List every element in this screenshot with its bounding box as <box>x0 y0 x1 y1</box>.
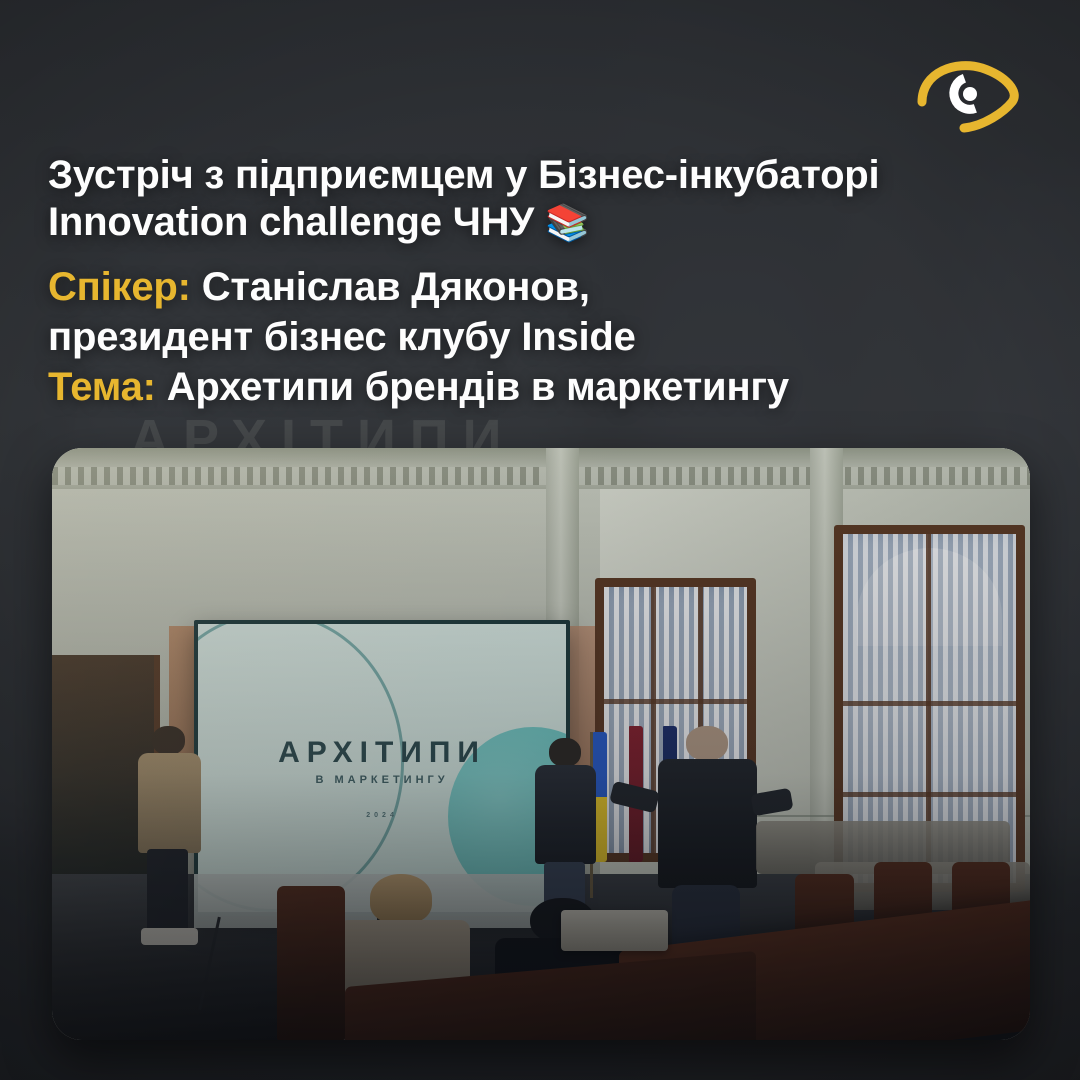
social-post-card: АРХІТИПИ Зустріч з підприємцем у Бізнес-… <box>0 0 1080 1080</box>
title-line-2: Innovation challenge ЧНУ 📚 <box>48 199 968 246</box>
event-photo: АРХІТИПИ В МАРКЕТИНГУ 2024 <box>52 448 1030 1040</box>
topic-value: Архетипи брендів в маркетингу <box>167 365 789 409</box>
eye-logo-icon <box>908 48 1028 144</box>
photo-scene: АРХІТИПИ В МАРКЕТИНГУ 2024 <box>52 448 1030 1040</box>
event-details: Спікер: Станіслав Дяконов, президент біз… <box>48 262 998 412</box>
title-line-1: Зустріч з підприємцем у Бізнес-інкубатор… <box>48 152 968 199</box>
speaker-label: Спікер: <box>48 265 191 309</box>
page-title: Зустріч з підприємцем у Бізнес-інкубатор… <box>48 152 968 246</box>
books-emoji: 📚 <box>545 202 590 243</box>
speaker-name: Станіслав Дяконов, <box>202 265 590 309</box>
speaker-row: Спікер: Станіслав Дяконов, <box>48 262 998 312</box>
topic-row: Тема: Архетипи брендів в маркетингу <box>48 362 998 412</box>
speaker-role-row: президент бізнес клубу Inside <box>48 312 998 362</box>
topic-label: Тема: <box>48 365 156 409</box>
title-line-2-text: Innovation challenge ЧНУ <box>48 200 534 244</box>
